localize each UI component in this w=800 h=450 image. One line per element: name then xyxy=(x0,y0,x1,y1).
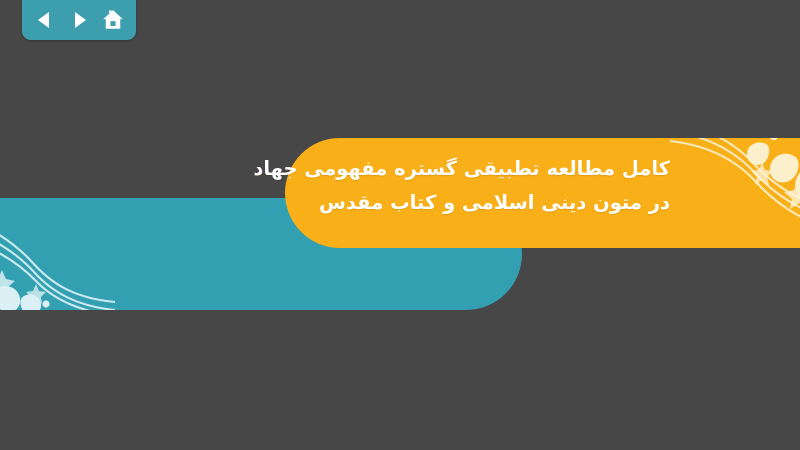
next-arrow-icon xyxy=(69,10,89,30)
arabesque-ornament-teal xyxy=(0,198,115,310)
presentation-slide: کامل مطالعه تطبیقی گستره مفهومی جهاد در … xyxy=(0,0,800,450)
previous-arrow-icon xyxy=(35,10,55,30)
arabesque-ornament-orange xyxy=(670,138,800,248)
home-icon xyxy=(102,9,124,31)
slide-title: کامل مطالعه تطبیقی گستره مفهومی جهاد در … xyxy=(300,152,670,219)
next-button[interactable] xyxy=(65,7,93,33)
previous-button[interactable] xyxy=(31,7,59,33)
navigation-bar xyxy=(22,0,136,40)
title-line-1: کامل مطالعه تطبیقی گستره مفهومی جهاد xyxy=(300,152,670,186)
home-button[interactable] xyxy=(99,7,127,33)
title-line-2: در متون دینی اسلامی و کتاب مقدس xyxy=(300,186,670,220)
